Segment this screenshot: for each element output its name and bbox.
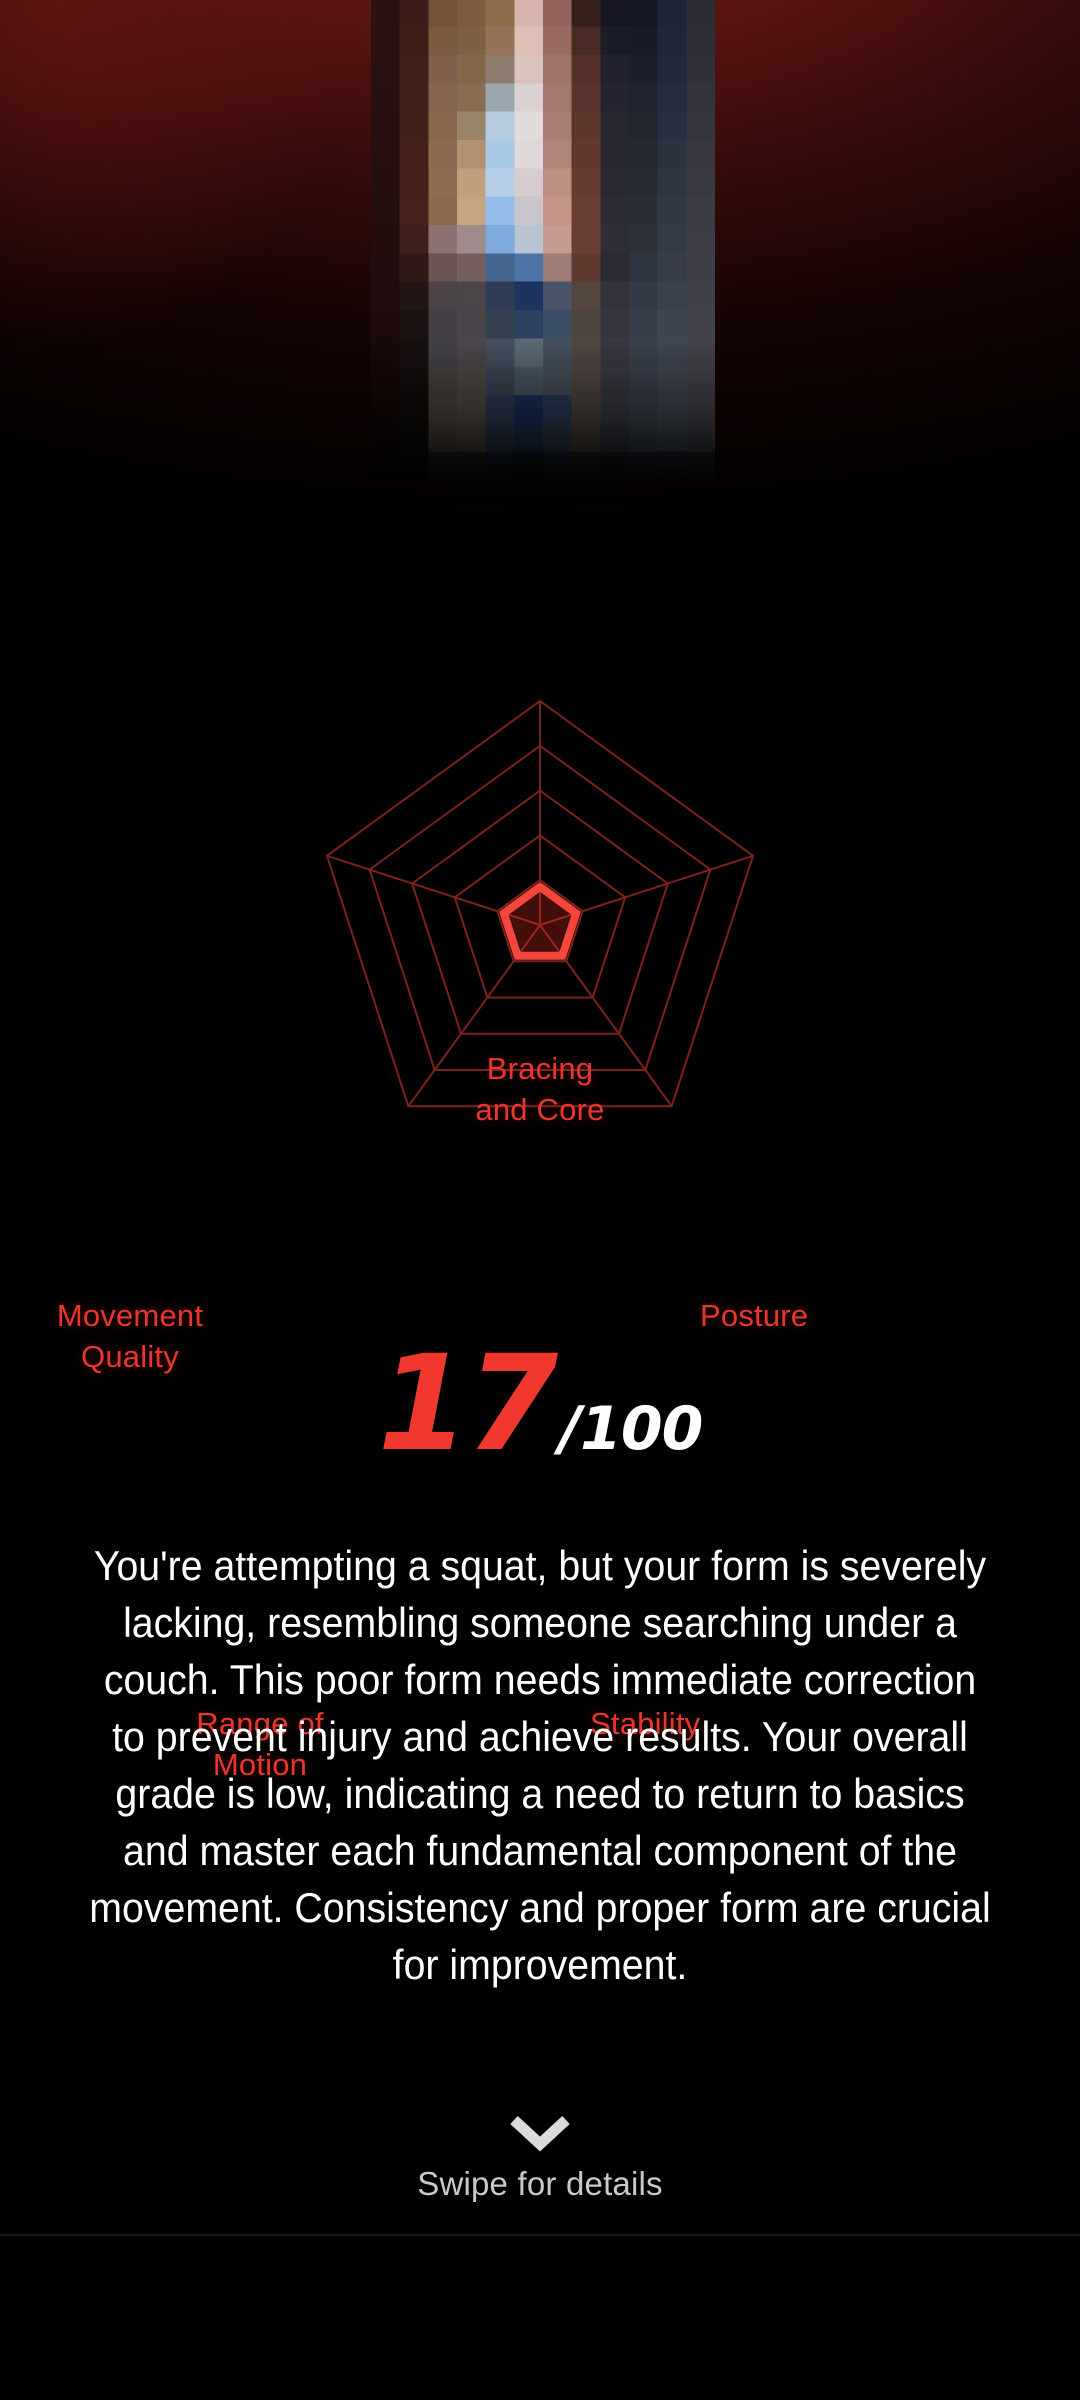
exercise-thumbnail[interactable] bbox=[371, 0, 715, 480]
swipe-hint-label: Swipe for details bbox=[0, 2164, 1080, 2204]
score-max: /100 bbox=[559, 1399, 702, 1459]
radar-label-bracing-and-core: Bracing and Core bbox=[340, 1048, 740, 1130]
radar-series-polygon bbox=[504, 887, 576, 956]
radar-chart-section: Bracing and Core Posture Stability Range… bbox=[0, 500, 1080, 1340]
chevron-down-icon[interactable] bbox=[508, 2114, 572, 2152]
form-feedback-text: You're attempting a squat, but your form… bbox=[86, 1537, 995, 1993]
pixelated-photo bbox=[371, 0, 715, 480]
radar-label-posture: Posture bbox=[700, 1295, 1000, 1336]
swipe-for-details-hint[interactable]: Swipe for details bbox=[0, 2114, 1080, 2204]
bottom-divider bbox=[0, 2234, 1080, 2236]
score-value: 17 bbox=[378, 1338, 556, 1470]
form-score-radar-chart bbox=[0, 500, 1080, 1340]
score-row: 17 /100 bbox=[0, 1338, 1080, 1470]
